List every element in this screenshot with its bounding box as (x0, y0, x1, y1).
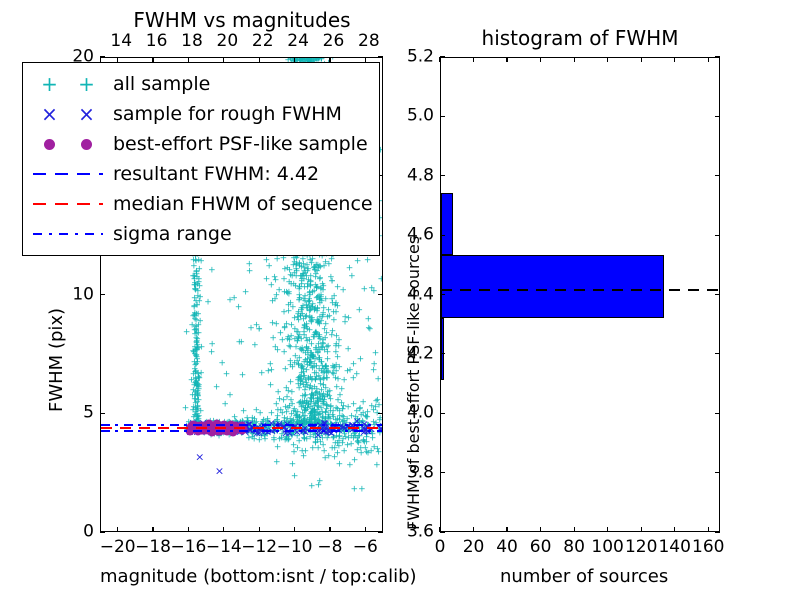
scatter-point-all: + (193, 423, 201, 432)
scatter-point-all: + (227, 430, 235, 439)
scatter-point-all: + (231, 413, 239, 422)
scatter-point-all: + (357, 411, 365, 420)
scatter-point-all: + (358, 485, 366, 494)
scatter-point-all: + (317, 286, 325, 295)
scatter-point-all: + (298, 264, 306, 273)
scatter-point-all: + (287, 422, 295, 431)
scatter-point-all: + (204, 420, 212, 429)
scatter-point-all: + (280, 255, 288, 264)
scatter-point-all: + (290, 416, 298, 425)
scatter-point-all: + (307, 303, 315, 312)
tick-mark-y (100, 413, 105, 414)
scatter-point-rough: × (212, 420, 221, 431)
scatter-point-all: + (318, 430, 326, 439)
scatter-point-all: + (244, 424, 252, 433)
scatter-point-psf (199, 424, 208, 433)
scatter-point-all: + (235, 428, 243, 437)
scatter-point-psf (193, 424, 202, 433)
scatter-point-all: + (348, 433, 356, 442)
scatter-point-all: + (304, 281, 312, 290)
scatter-point-rough: × (189, 423, 198, 434)
scatter-point-all: + (313, 409, 321, 418)
scatter-point-all: + (311, 356, 319, 365)
scatter-point-psf (200, 425, 209, 434)
scatter-point-all: + (195, 256, 203, 265)
scatter-point-all: + (306, 298, 314, 307)
scatter-point-all: + (194, 390, 202, 399)
scatter-point-all: + (361, 438, 369, 447)
scatter-point-all: + (237, 419, 245, 428)
scatter-point-all: + (316, 426, 324, 435)
scatter-point-all: + (319, 336, 327, 345)
scatter-point-all: + (356, 406, 364, 415)
scatter-point-all: + (295, 375, 303, 384)
scatter-point-all: + (301, 283, 309, 292)
scatter-point-psf (204, 420, 213, 429)
scatter-point-psf (200, 424, 209, 433)
scatter-point-all: + (238, 422, 246, 431)
scatter-point-all: + (368, 402, 376, 411)
scatter-point-all: + (331, 454, 339, 463)
scatter-point-all: + (292, 343, 300, 352)
scatter-point-all: + (255, 326, 263, 335)
scatter-point-all: + (187, 429, 195, 438)
scatter-point-all: + (299, 303, 307, 312)
scatter-point-rough: × (249, 421, 258, 432)
scatter-point-all: + (253, 321, 261, 330)
scatter-point-all: + (346, 461, 354, 470)
scatter-point-all: + (315, 319, 323, 328)
scatter-point-all: + (319, 340, 327, 349)
scatter-point-all: + (314, 444, 322, 453)
scatter-point-all: + (295, 297, 303, 306)
scatter-point-all: + (293, 268, 301, 277)
scatter-point-all: + (314, 436, 322, 445)
scatter-point-all: + (296, 413, 304, 422)
scatter-point-all: + (192, 422, 200, 431)
scatter-point-all: + (330, 371, 338, 380)
scatter-point-all: + (245, 420, 253, 429)
scatter-point-psf (215, 426, 224, 435)
scatter-point-all: + (292, 266, 300, 275)
scatter-point-rough: × (230, 419, 239, 430)
scatter-point-all: + (336, 391, 344, 400)
scatter-point-all: + (249, 420, 257, 429)
scatter-point-psf (192, 422, 201, 431)
tick-mark-x-top (607, 57, 608, 62)
scatter-point-all: + (242, 424, 250, 433)
scatter-point-all: + (322, 258, 330, 267)
scatter-point-all: + (283, 418, 291, 427)
scatter-point-all: + (309, 407, 317, 416)
scatter-point-all: + (319, 344, 327, 353)
scatter-point-all: + (367, 425, 375, 434)
tick-mark-y (100, 56, 105, 57)
scatter-point-all: + (287, 425, 295, 434)
scatter-point-all: + (199, 427, 207, 436)
tick-mark-x (259, 527, 260, 532)
scatter-point-psf (238, 425, 247, 434)
scatter-point-all: + (328, 278, 336, 287)
scatter-point-all: + (242, 289, 250, 298)
scatter-point-all: + (274, 412, 282, 421)
scatter-point-rough: × (321, 421, 330, 432)
scatter-point-rough: × (281, 424, 290, 435)
scatter-point-all: + (339, 287, 347, 296)
scatter-point-all: + (265, 420, 273, 429)
scatter-point-all: + (240, 422, 248, 431)
scatter-point-all: + (218, 425, 226, 434)
scatter-point-all: + (322, 363, 330, 372)
scatter-point-all: + (189, 313, 197, 322)
scatter-point-all: + (302, 384, 310, 393)
histogram-axes (440, 57, 720, 532)
scatter-point-all: + (324, 368, 332, 377)
tick-label-x: 80 (563, 539, 585, 556)
scatter-point-all: + (300, 413, 308, 422)
scatter-point-all: + (324, 343, 332, 352)
scatter-point-all: + (319, 393, 327, 402)
scatter-point-all: + (238, 429, 246, 438)
scatter-point-all: + (221, 421, 229, 430)
scatter-point-all: + (260, 427, 268, 436)
tick-mark-y (440, 531, 445, 532)
scatter-point-all: + (195, 375, 203, 384)
scatter-point-rough: × (339, 422, 348, 433)
scatter-point-all: + (348, 412, 356, 421)
tick-mark-y-right (715, 531, 720, 532)
scatter-point-all: + (189, 406, 197, 415)
scatter-point-rough: × (217, 423, 226, 434)
scatter-point-all: + (273, 428, 281, 437)
scatter-point-all: + (307, 359, 315, 368)
legend: ++all sample××sample for rough FWHMbest-… (22, 62, 380, 256)
scatter-point-all: + (215, 429, 223, 438)
scatter-point-all: + (329, 300, 337, 309)
scatter-point-all: + (203, 419, 211, 428)
scatter-point-all: + (273, 417, 281, 426)
scatter-point-all: + (273, 256, 281, 265)
scatter-point-all: + (193, 271, 201, 280)
tick-mark-y (440, 472, 445, 473)
scatter-point-all: + (196, 422, 204, 431)
scatter-point-all: + (194, 388, 202, 397)
scatter-point-all: + (329, 411, 337, 420)
scatter-point-all: + (354, 416, 362, 425)
scatter-point-all: + (193, 356, 201, 365)
scatter-point-all: + (320, 396, 328, 405)
scatter-point-all: + (316, 333, 324, 342)
tick-mark-y (100, 294, 105, 295)
scatter-point-all: + (296, 420, 304, 429)
scatter-point-all: + (259, 426, 267, 435)
scatter-point-rough: × (351, 423, 360, 434)
scatter-point-all: + (350, 431, 358, 440)
scatter-point-all: + (287, 379, 295, 388)
scatter-point-all: + (192, 346, 200, 355)
scatter-point-all: + (351, 430, 359, 439)
scatter-point-all: + (294, 311, 302, 320)
scatter-point-psf (218, 424, 227, 433)
scatter-point-all: + (227, 425, 235, 434)
scatter-point-all: + (312, 421, 320, 430)
scatter-point-all: + (243, 425, 251, 434)
scatter-point-rough: × (301, 427, 310, 438)
scatter-point-psf (186, 424, 195, 433)
scatter-point-psf (220, 421, 229, 430)
scatter-point-all: + (244, 427, 252, 436)
scatter-point-all: + (366, 325, 374, 334)
scatter-point-all: + (212, 423, 220, 432)
scatter-point-all: + (309, 364, 317, 373)
scatter-point-all: + (316, 335, 324, 344)
scatter-point-all: + (286, 337, 294, 346)
scatter-point-all: + (312, 262, 320, 271)
scatter-point-all: + (253, 430, 261, 439)
scatter-point-all: + (267, 382, 275, 391)
scatter-point-all: + (351, 423, 359, 432)
scatter-point-all: + (325, 307, 333, 316)
scatter-point-all: + (269, 427, 277, 436)
scatter-point-all: + (274, 427, 282, 436)
scatter-point-rough: × (199, 417, 208, 428)
scatter-point-psf (202, 424, 211, 433)
scatter-point-all: + (296, 262, 304, 271)
scatter-point-all: + (312, 416, 320, 425)
scatter-point-all: + (328, 445, 336, 454)
scatter-point-all: + (260, 425, 268, 434)
tick-mark-x (117, 527, 118, 532)
scatter-point-all: + (334, 440, 342, 449)
scatter-point-all: + (360, 437, 368, 446)
scatter-point-all: + (226, 392, 234, 401)
scatter-point-all: + (299, 347, 307, 356)
tick-label-x: 140 (658, 539, 690, 556)
scatter-point-all: + (214, 421, 222, 430)
scatter-point-all: + (285, 308, 293, 317)
scatter-point-all: + (312, 431, 320, 440)
scatter-point-rough: × (208, 421, 217, 432)
scatter-point-psf (207, 422, 216, 431)
scatter-point-psf (204, 422, 213, 431)
scatter-point-all: + (299, 311, 307, 320)
scatter-point-all: + (312, 305, 320, 314)
scatter-point-psf (203, 421, 212, 430)
tick-label-y: 5.2 (392, 49, 434, 66)
scatter-point-all: + (273, 292, 281, 301)
scatter-point-all: + (230, 294, 238, 303)
histogram-bar (441, 318, 444, 380)
scatter-point-all: + (281, 414, 289, 423)
scatter-point-psf (197, 426, 206, 435)
scatter-point-all: + (327, 428, 335, 437)
scatter-point-all: + (206, 425, 214, 434)
scatter-point-all: + (299, 363, 307, 372)
scatter-point-all: + (191, 313, 199, 322)
scatter-point-all: + (249, 417, 257, 426)
scatter-point-all: + (316, 391, 324, 400)
scatter-point-psf (202, 423, 211, 432)
scatter-point-all: + (269, 335, 277, 344)
scatter-point-all: + (203, 428, 211, 437)
scatter-point-all: + (372, 419, 380, 428)
scatter-point-all: + (210, 426, 218, 435)
scatter-point-all: + (302, 400, 310, 409)
scatter-point-all: + (298, 307, 306, 316)
scatter-point-psf (230, 424, 239, 433)
scatter-point-all: + (309, 300, 317, 309)
scatter-point-all: + (220, 430, 228, 439)
scatter-point-all: + (303, 273, 311, 282)
scatter-point-rough: × (213, 420, 222, 431)
scatter-point-all: + (312, 274, 320, 283)
scatter-point-all: + (228, 429, 236, 438)
scatter-point-psf (223, 423, 232, 432)
scatter-point-psf (200, 424, 209, 433)
scatter-point-all: + (194, 370, 202, 379)
scatter-point-psf (226, 423, 235, 432)
scatter-point-all: + (369, 431, 377, 440)
scatter-point-all: + (199, 427, 207, 436)
scatter-point-all: + (265, 424, 273, 433)
legend-item-4: median FHWM of sequence (31, 189, 369, 219)
scatter-point-all: + (312, 420, 320, 429)
legend-label-3: resultant FWHM: 4.42 (109, 163, 319, 185)
scatter-point-all: + (369, 435, 377, 444)
tick-mark-x (506, 527, 507, 532)
scatter-point-all: + (194, 336, 202, 345)
scatter-point-all: + (296, 283, 304, 292)
scatter-point-all: + (316, 299, 324, 308)
scatter-point-all: + (322, 428, 330, 437)
scatter-point-all: + (257, 421, 265, 430)
scatter-point-all: + (270, 435, 278, 444)
scatter-point-all: + (301, 323, 309, 332)
scatter-point-all: + (191, 272, 199, 281)
tick-mark-x (607, 527, 608, 532)
scatter-point-all: + (335, 343, 343, 352)
scatter-point-all: + (298, 370, 306, 379)
scatter-point-psf (198, 423, 207, 432)
histogram-bar (441, 193, 453, 255)
scatter-point-all: + (365, 316, 373, 325)
scatter-point-psf (231, 423, 240, 432)
scatter-point-all: + (230, 426, 238, 435)
scatter-point-all: + (315, 396, 323, 405)
tick-mark-y-right (378, 413, 383, 414)
scatter-point-all: + (223, 426, 231, 435)
scatter-point-all: + (304, 283, 312, 292)
scatter-point-all: + (376, 423, 382, 432)
scatter-point-rough: × (210, 422, 219, 433)
scatter-point-all: + (297, 399, 305, 408)
scatter-point-all: + (317, 343, 325, 352)
scatter-point-rough: × (271, 420, 280, 431)
scatter-point-all: + (331, 444, 339, 453)
scatter-point-rough: × (274, 418, 283, 429)
scatter-point-all: + (270, 422, 278, 431)
tick-label-x: 120 (625, 539, 657, 556)
scatter-point-all: + (219, 426, 227, 435)
scatter-point-all: + (359, 398, 367, 407)
scatter-point-all: + (189, 428, 197, 437)
scatter-point-all: + (329, 328, 337, 337)
scatter-point-all: + (280, 396, 288, 405)
scatter-point-rough: × (322, 426, 331, 437)
scatter-point-all: + (204, 298, 212, 307)
scatter-point-all: + (193, 421, 201, 430)
scatter-point-all: + (318, 313, 326, 322)
scatter-point-all: + (249, 430, 257, 439)
scatter-point-all: + (317, 377, 325, 386)
scatter-point-rough: × (352, 415, 361, 426)
scatter-point-psf (237, 424, 246, 433)
scatter-point-all: + (360, 438, 368, 447)
scatter-point-all: + (286, 266, 294, 275)
scatter-point-all: + (299, 272, 307, 281)
scatter-point-psf (197, 425, 206, 434)
scatter-point-all: + (307, 374, 315, 383)
scatter-point-psf (203, 423, 212, 432)
scatter-point-all: + (374, 375, 382, 384)
scatter-point-all: + (314, 403, 322, 412)
scatter-point-all: + (197, 419, 205, 428)
scatter-point-rough: × (330, 419, 339, 430)
scatter-point-psf (215, 423, 224, 432)
scatter-point-all: + (315, 403, 323, 412)
scatter-point-rough: × (190, 426, 199, 437)
scatter-point-all: + (288, 432, 296, 441)
scatter-point-all: + (352, 413, 360, 422)
scatter-point-all: + (287, 332, 295, 341)
scatter-point-all: + (193, 354, 201, 363)
scatter-point-all: + (302, 391, 310, 400)
legend-marker-5 (31, 219, 109, 249)
scatter-point-all: + (193, 423, 201, 432)
scatter-point-all: + (183, 427, 191, 436)
scatter-point-all: + (226, 418, 234, 427)
scatter-point-all: + (266, 427, 274, 436)
dashed-line-icon (33, 203, 103, 205)
scatter-point-psf (219, 424, 228, 433)
scatter-point-psf (210, 423, 219, 432)
scatter-point-all: + (271, 295, 279, 304)
scatter-point-all: + (355, 439, 363, 448)
scatter-point-rough: × (195, 451, 204, 462)
scatter-point-all: + (271, 418, 279, 427)
scatter-point-all: + (312, 270, 320, 279)
scatter-point-all: + (225, 421, 233, 430)
scatter-point-all: + (315, 372, 323, 381)
scatter-point-all: + (196, 426, 204, 435)
tick-mark-x-top (540, 57, 541, 62)
scatter-point-all: + (251, 341, 259, 350)
scatter-point-all: + (293, 412, 301, 421)
scatter-point-all: + (279, 336, 287, 345)
scatter-point-all: + (238, 338, 246, 347)
scatter-point-all: + (363, 413, 371, 422)
scatter-point-all: + (236, 338, 244, 347)
tick-mark-y (100, 531, 105, 532)
scatter-point-all: + (312, 369, 320, 378)
scatter-point-all: + (350, 427, 358, 436)
scatter-point-rough: × (236, 421, 245, 432)
scatter-point-all: + (302, 335, 310, 344)
scatter-point-all: + (229, 420, 237, 429)
scatter-point-all: + (314, 418, 322, 427)
scatter-point-all: + (268, 366, 276, 375)
scatter-point-psf (228, 427, 237, 436)
